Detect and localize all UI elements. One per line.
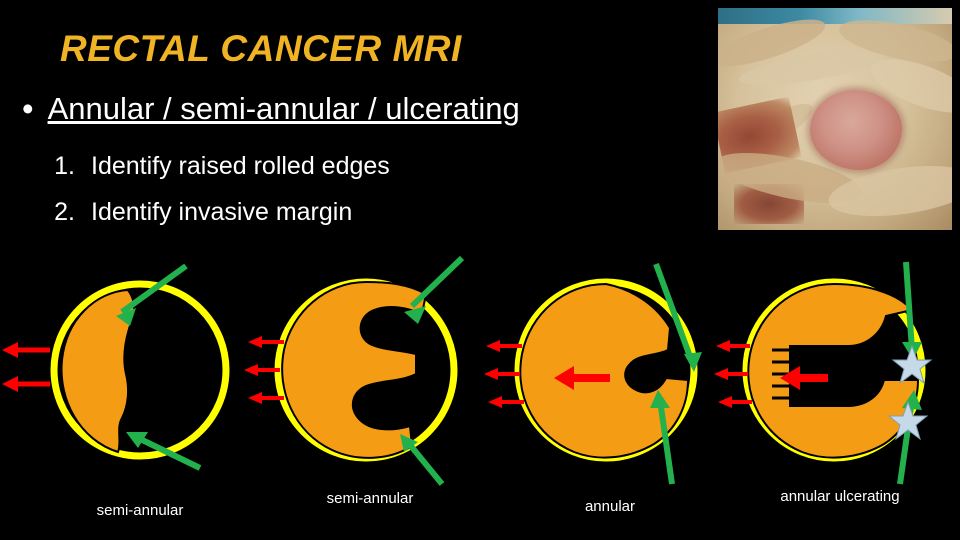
figure-caption: annular [500, 498, 720, 515]
bullet-text: Annular / semi-annular / ulcerating [48, 92, 520, 126]
list-item-number: 1. [35, 152, 75, 181]
figure-caption: semi-annular [260, 490, 480, 507]
red-arrow-tumor-edge [2, 342, 50, 358]
red-arrow-tumor-edge [488, 396, 524, 408]
figure-semi-annular-1: semi-annular [0, 250, 250, 490]
gross-pathology-photo [718, 8, 952, 230]
figure-caption: semi-annular [30, 502, 250, 519]
bullet-row: • Annular / semi-annular / ulcerating [22, 92, 520, 126]
figure-annular: annular [480, 250, 730, 490]
list-item: 2. Identify invasive margin [35, 198, 352, 227]
figure-caption: annular ulcerating [730, 488, 950, 505]
list-item: 1. Identify raised rolled edges [35, 152, 390, 181]
list-item-number: 2. [35, 198, 75, 227]
list-item-label: Identify invasive margin [91, 198, 352, 227]
figure-annular-ulcerating: annular ulcerating [716, 250, 960, 490]
slide: RECTAL CANCER MRI • Annular / semi-annul… [0, 0, 960, 540]
red-arrow-tumor-edge [2, 376, 50, 392]
figure-semi-annular-2: semi-annular [240, 250, 490, 490]
photo-tumor-nodule [810, 90, 902, 170]
diagram-row: semi-annular [0, 250, 960, 540]
list-item-label: Identify raised rolled edges [91, 152, 390, 181]
photo-top-band [718, 8, 952, 24]
bullet-marker: • [22, 92, 34, 125]
red-arrow-tumor-edge [486, 340, 522, 352]
page-title: RECTAL CANCER MRI [60, 28, 462, 70]
